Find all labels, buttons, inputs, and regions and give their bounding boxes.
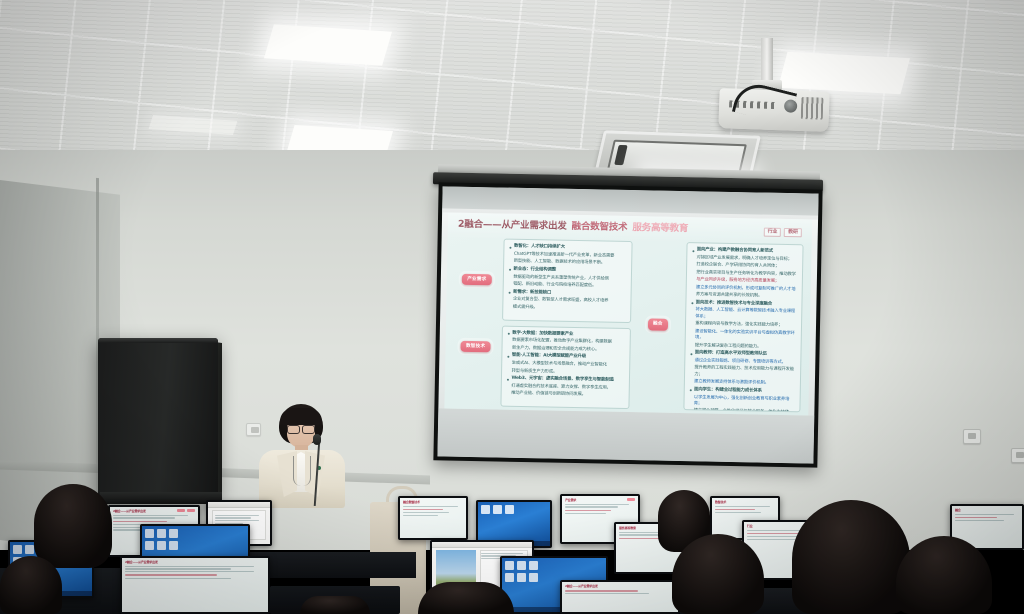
ceiling-light-panel bbox=[778, 52, 910, 94]
desktop-icon[interactable] bbox=[505, 573, 514, 582]
eyeglasses-icon bbox=[287, 425, 315, 432]
bullet-dot-icon bbox=[509, 292, 511, 294]
presenter-fringe bbox=[280, 408, 322, 425]
badge-fusion: 融合 bbox=[648, 319, 668, 330]
badge-digital-tech: 数智技术 bbox=[461, 341, 490, 353]
desktop-icon[interactable] bbox=[145, 529, 154, 538]
desktop-icon[interactable] bbox=[169, 529, 178, 538]
slide-middle-column: 数智化：人才缺口持续扩大 ChatGPT等技术加速推进新一代产业变革，新业态需要… bbox=[500, 237, 632, 409]
document-ribbon bbox=[208, 502, 270, 508]
monitor-slide-line bbox=[125, 568, 231, 569]
student-head bbox=[0, 556, 62, 614]
monitor-slide-accent bbox=[125, 574, 217, 576]
desktop-icon[interactable] bbox=[145, 541, 154, 550]
monitor-slide-title: 2融合——从产业需求出发 bbox=[565, 584, 675, 588]
desktop-icon[interactable] bbox=[505, 505, 514, 514]
slide-right-column: 面向产业：构建产教融合协同育人新范式 对接区域产业发展需求，明确人才培养定位与目… bbox=[683, 240, 803, 412]
slide-badge-column: 产业需求 数智技术 bbox=[452, 236, 499, 407]
document-line bbox=[215, 515, 259, 516]
monitor-slide-title: 产业需求 bbox=[565, 498, 635, 502]
bullet-heading: 面向教师：打造高水平双师型教师队伍 bbox=[695, 350, 767, 358]
projector-pole bbox=[761, 38, 773, 84]
projection-screen: 2融合——从产业需求出发 融合数智技术 服务高等教育 行业 教研 产业需求 数智… bbox=[433, 182, 822, 467]
bullet-dot-icon bbox=[689, 389, 691, 391]
monitor-slide-line bbox=[125, 571, 254, 572]
desktop-icon[interactable] bbox=[25, 545, 34, 554]
monitor-slide-line bbox=[955, 520, 1004, 521]
monitor-slide-line bbox=[955, 514, 1014, 515]
bullet-heading: 智能·人工智能：AI大模型赋能产业升级 bbox=[512, 353, 586, 361]
bullet-dot-icon bbox=[690, 353, 692, 355]
desktop-icon[interactable] bbox=[169, 541, 178, 550]
monitor-slide-accent bbox=[715, 509, 755, 511]
desktop-icon[interactable] bbox=[493, 505, 502, 514]
bullet-line: 以学生发展为中心，强化创新创业教育与职业素养培育； bbox=[689, 395, 794, 410]
slide-box-industry: 数智化：人才缺口持续扩大 ChatGPT等技术加速推进新一代产业变革，新业态需要… bbox=[502, 239, 632, 323]
monitor-slide-tag bbox=[187, 509, 195, 512]
monitor-slide-title: 2融合——从产业需求出发 bbox=[125, 560, 265, 564]
bullet-dot-icon bbox=[692, 250, 694, 252]
monitor-slide-line bbox=[565, 504, 629, 505]
desktop-icon[interactable] bbox=[517, 573, 526, 582]
monitor-slide-line bbox=[715, 506, 770, 507]
document-ribbon bbox=[432, 542, 532, 548]
monitor-slide-tag bbox=[177, 509, 185, 512]
monitor-slide-line bbox=[403, 506, 458, 507]
bullet-line: 建设智能化、一体化的实验实训平台与虚拟仿真教学环境， bbox=[690, 329, 795, 344]
desktop-icon[interactable] bbox=[517, 561, 526, 570]
monitor-slide-accent bbox=[565, 590, 638, 592]
speaker-cabinet bbox=[98, 338, 218, 498]
desktop-icon[interactable] bbox=[157, 541, 166, 550]
desktop-icon[interactable] bbox=[529, 573, 538, 582]
desktop-icons[interactable] bbox=[145, 529, 178, 550]
desktop-icon[interactable] bbox=[481, 505, 490, 514]
document-line bbox=[215, 517, 251, 518]
bullet-line: 提升教师的工程实践能力、技术应用能力与课程开发能力； bbox=[690, 366, 795, 381]
monitor-slide-line bbox=[565, 593, 649, 594]
bullet-heading: 数字·大数据：加快数据要素产业 bbox=[512, 330, 573, 338]
monitor-slide-title: 融合 bbox=[955, 508, 1019, 512]
bullet-heading: 面向产业：构建产教融合协同育人新范式 bbox=[697, 247, 773, 255]
bullet-heading: 数智化：人才缺口持续扩大 bbox=[514, 244, 565, 251]
monitor-slide-line bbox=[125, 566, 254, 567]
student-head bbox=[418, 582, 514, 614]
slide-box-technology: 数字·大数据：加快数据要素产业 数据要素市场化配置，推动数字产业集群化，构建数据… bbox=[500, 325, 630, 409]
monitor-slide-line bbox=[715, 512, 761, 513]
ac-vent-slot bbox=[614, 145, 628, 165]
projector-vent bbox=[801, 97, 824, 120]
monitor-screen-slide: 融合数智技术 bbox=[400, 498, 466, 538]
monitor-slide-line bbox=[113, 517, 175, 518]
monitor[interactable]: 2融合——从产业需求出发 bbox=[120, 556, 270, 614]
monitor-slide-title: 融合数智技术 bbox=[403, 500, 463, 504]
monitor-slide-title: 数智技术 bbox=[715, 500, 775, 504]
wall-outlet[interactable] bbox=[1011, 448, 1024, 463]
slide-box-response: 面向产业：构建产教融合协同育人新范式 对接区域产业发展需求，明确人才培养定位与目… bbox=[683, 242, 803, 412]
bullet-heading: 面向技术：推进数智技术与专业深度融合 bbox=[696, 300, 772, 308]
student-head bbox=[792, 500, 910, 614]
desktop-icon[interactable] bbox=[13, 545, 22, 554]
bullet-line: 将大数据、人工智能、云计算等数智技术融入专业课程体系； bbox=[691, 308, 796, 323]
document-line bbox=[481, 553, 523, 554]
slide-body: 产业需求 数智技术 数智化：人才缺口持续扩大 ChatGPT等技术加速推进新一代… bbox=[452, 236, 803, 413]
monitor-slide-line bbox=[125, 578, 231, 579]
bullet-line: 模式需升级。 bbox=[508, 305, 625, 314]
bullet-dot-icon bbox=[509, 246, 511, 248]
desktop-icon[interactable] bbox=[529, 561, 538, 570]
monitor-slide-accent bbox=[113, 521, 167, 523]
bullet-line: 推动产业链、价值链与创新链协同发展。 bbox=[507, 391, 624, 400]
monitor-screen-slide: 2融合——从产业需求出发 bbox=[122, 558, 268, 612]
bullet-dot-icon bbox=[507, 378, 509, 380]
bullet-dot-icon bbox=[508, 333, 510, 335]
monitor[interactable]: 融合数智技术 bbox=[398, 496, 468, 540]
presenter-lanyard bbox=[293, 456, 311, 486]
bullet-dot-icon bbox=[507, 355, 509, 357]
ceiling-light-panel bbox=[264, 24, 392, 65]
bullet-heading: Web3、元宇宙：虚实融合场景、数字孪生与智能制造 bbox=[511, 376, 613, 384]
wall-outlet[interactable] bbox=[963, 429, 981, 444]
slide-bullet: 面向教师：打造高水平双师型教师队伍 bbox=[690, 350, 795, 358]
presenter bbox=[243, 404, 359, 504]
monitor-slide-accent bbox=[565, 510, 611, 512]
slide-bullet: 面向产业：构建产教融合协同育人新范式 bbox=[692, 247, 797, 255]
student-head bbox=[300, 596, 370, 614]
bullet-dot-icon bbox=[509, 269, 511, 271]
desktop-icon[interactable] bbox=[505, 561, 514, 570]
bullet-line: 建立学业预警、个性化学习与就业服务一体化支持体系。 bbox=[689, 409, 794, 413]
microphone-icon bbox=[313, 434, 321, 445]
bullet-dot-icon bbox=[691, 302, 693, 304]
classroom-photo: 2融合——从产业需求出发 融合数智技术 服务高等教育 行业 教研 产业需求 数智… bbox=[0, 0, 1024, 614]
bullet-heading: 新业态：行业结构调整 bbox=[513, 267, 556, 274]
desktop-icons[interactable] bbox=[505, 561, 538, 582]
document-line bbox=[215, 520, 259, 521]
screen-surface: 2融合——从产业需求出发 融合数智技术 服务高等教育 行业 教研 产业需求 数智… bbox=[437, 186, 818, 463]
monitor[interactable]: 2融合——从产业需求出发 bbox=[560, 580, 680, 614]
desktop-icon[interactable] bbox=[157, 529, 166, 538]
screen-bottom-band bbox=[437, 408, 814, 463]
speaker-base bbox=[100, 492, 222, 504]
monitor-slide-line bbox=[565, 513, 606, 514]
monitor-slide-accent bbox=[403, 509, 443, 511]
student-head bbox=[34, 484, 112, 568]
badge-industry-demand: 产业需求 bbox=[462, 274, 491, 286]
slide-center-column: 融合 bbox=[633, 239, 682, 410]
monitor-screen-slide: 2融合——从产业需求出发 bbox=[562, 582, 678, 612]
monitor-slide-tag bbox=[627, 498, 635, 501]
monitor-slide-line bbox=[747, 539, 798, 540]
bullet-heading: 面向学生：构建全过程能力成长体系 bbox=[694, 387, 762, 395]
monitor-slide-line bbox=[113, 515, 188, 516]
bullet-heading: 新需求：新技能缺口 bbox=[513, 289, 551, 296]
monitor-slide-accent bbox=[955, 517, 997, 519]
monitor-slide-line bbox=[403, 512, 449, 513]
monitor-slide-line bbox=[565, 506, 618, 507]
slide-bullet: 面向学生：构建全过程能力成长体系 bbox=[689, 387, 794, 395]
monitor-slide-line bbox=[403, 515, 438, 516]
desktop-icons[interactable] bbox=[481, 505, 514, 514]
